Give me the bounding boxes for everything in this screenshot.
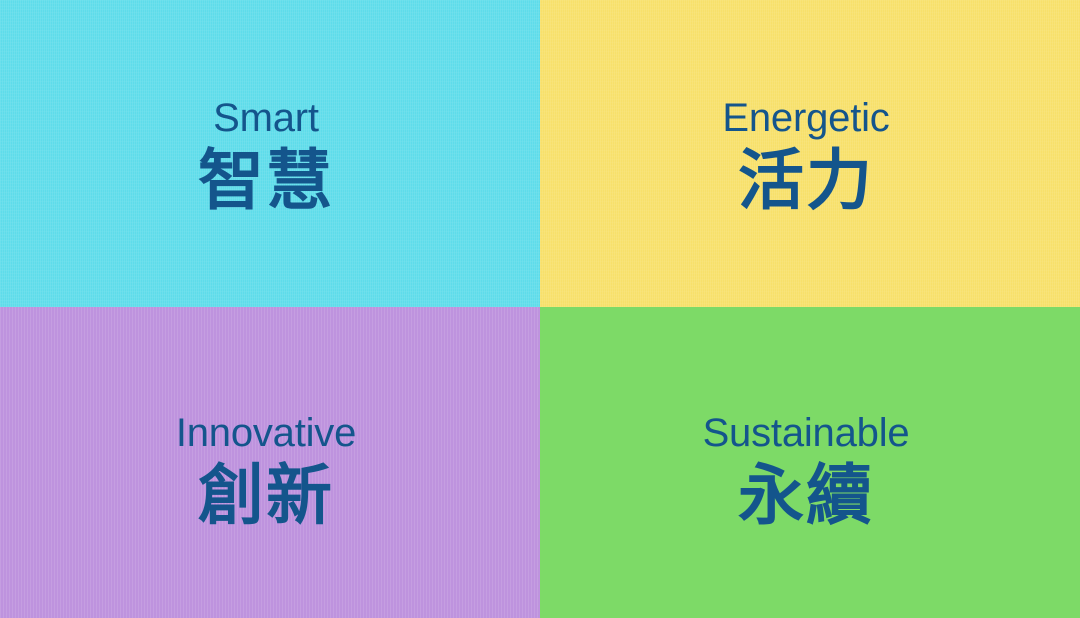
quadrant-smart[interactable]: Smart 智慧	[0, 0, 540, 307]
label-stack-sustainable: Sustainable 永續	[540, 307, 1076, 531]
label-stack-smart: Smart 智慧	[0, 0, 536, 216]
label-stack-innovative: Innovative 創新	[0, 307, 536, 531]
quadrant-sustainable[interactable]: Sustainable 永續	[540, 307, 1080, 618]
label-en-smart: Smart	[213, 98, 319, 138]
quadrant-innovative[interactable]: Innovative 創新	[0, 307, 540, 618]
label-zh-innovative: 創新	[198, 461, 334, 531]
label-zh-sustainable: 永續	[738, 461, 874, 531]
label-stack-energetic: Energetic 活力	[540, 0, 1076, 216]
label-en-energetic: Energetic	[722, 98, 889, 138]
quadrant-energetic[interactable]: Energetic 活力	[540, 0, 1080, 307]
label-zh-smart: 智慧	[198, 146, 334, 216]
brand-values-grid: Smart 智慧 Energetic 活力 Innovative 創新 Sust…	[0, 0, 1080, 618]
label-en-innovative: Innovative	[176, 413, 356, 453]
label-en-sustainable: Sustainable	[703, 413, 910, 453]
label-zh-energetic: 活力	[738, 146, 874, 216]
